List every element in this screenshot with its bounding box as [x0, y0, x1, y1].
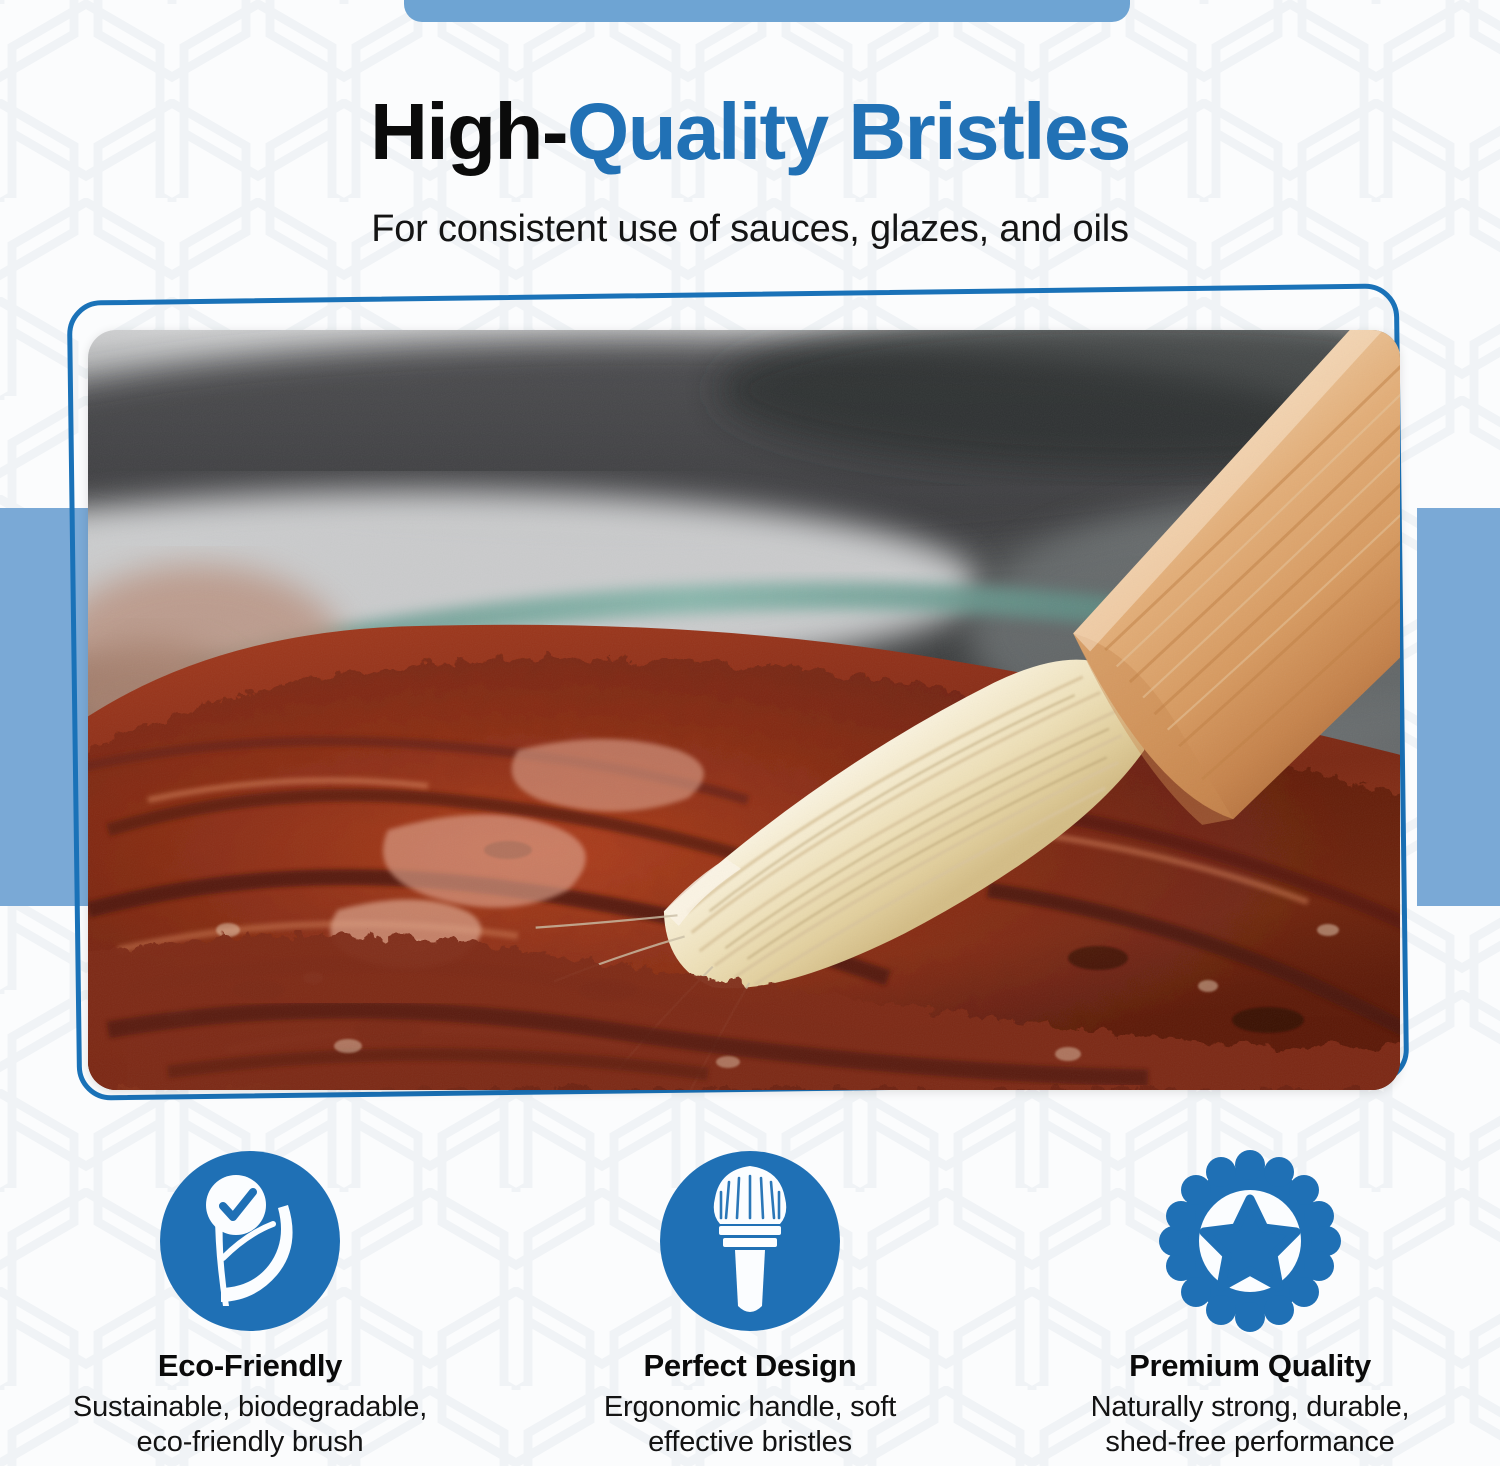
feature-desc-line-1: Sustainable, biodegradable,: [73, 1391, 427, 1423]
feature-desc-line-2: shed-free performance: [1105, 1426, 1394, 1458]
basting-brush-icon: [657, 1148, 843, 1334]
feature-title: Premium Quality: [1129, 1348, 1371, 1384]
page-subtitle: For consistent use of sauces, glazes, an…: [0, 208, 1500, 251]
hero-photo: [88, 330, 1400, 1090]
feature-item-premium-quality: Premium Quality Naturally strong, durabl…: [1000, 1148, 1500, 1461]
feature-desc-line-1: Naturally strong, durable,: [1091, 1391, 1410, 1423]
feature-description: Sustainable, biodegradable, eco-friendly…: [73, 1390, 427, 1461]
feature-row: Eco-Friendly Sustainable, biodegradable,…: [0, 1148, 1500, 1461]
quality-badge-star-icon: [1157, 1148, 1343, 1334]
feature-item-perfect-design: Perfect Design Ergonomic handle, soft ef…: [500, 1148, 1000, 1461]
eco-leaf-check-icon: [157, 1148, 343, 1334]
top-blue-tab: [404, 0, 1130, 22]
feature-item-eco-friendly: Eco-Friendly Sustainable, biodegradable,…: [0, 1148, 500, 1461]
page-title: High-Quality Bristles: [0, 92, 1500, 172]
feature-desc-line-1: Ergonomic handle, soft: [604, 1391, 896, 1423]
headline-part-1: High-: [370, 87, 567, 176]
headline-part-2: Quality Bristles: [567, 87, 1130, 176]
feature-description: Naturally strong, durable, shed-free per…: [1091, 1390, 1410, 1461]
feature-description: Ergonomic handle, soft effective bristle…: [604, 1390, 896, 1461]
feature-desc-line-2: eco-friendly brush: [137, 1426, 364, 1458]
feature-title: Eco-Friendly: [158, 1348, 342, 1384]
hero-section: [0, 270, 1500, 1150]
feature-title: Perfect Design: [644, 1348, 857, 1384]
feature-desc-line-2: effective bristles: [648, 1426, 852, 1458]
